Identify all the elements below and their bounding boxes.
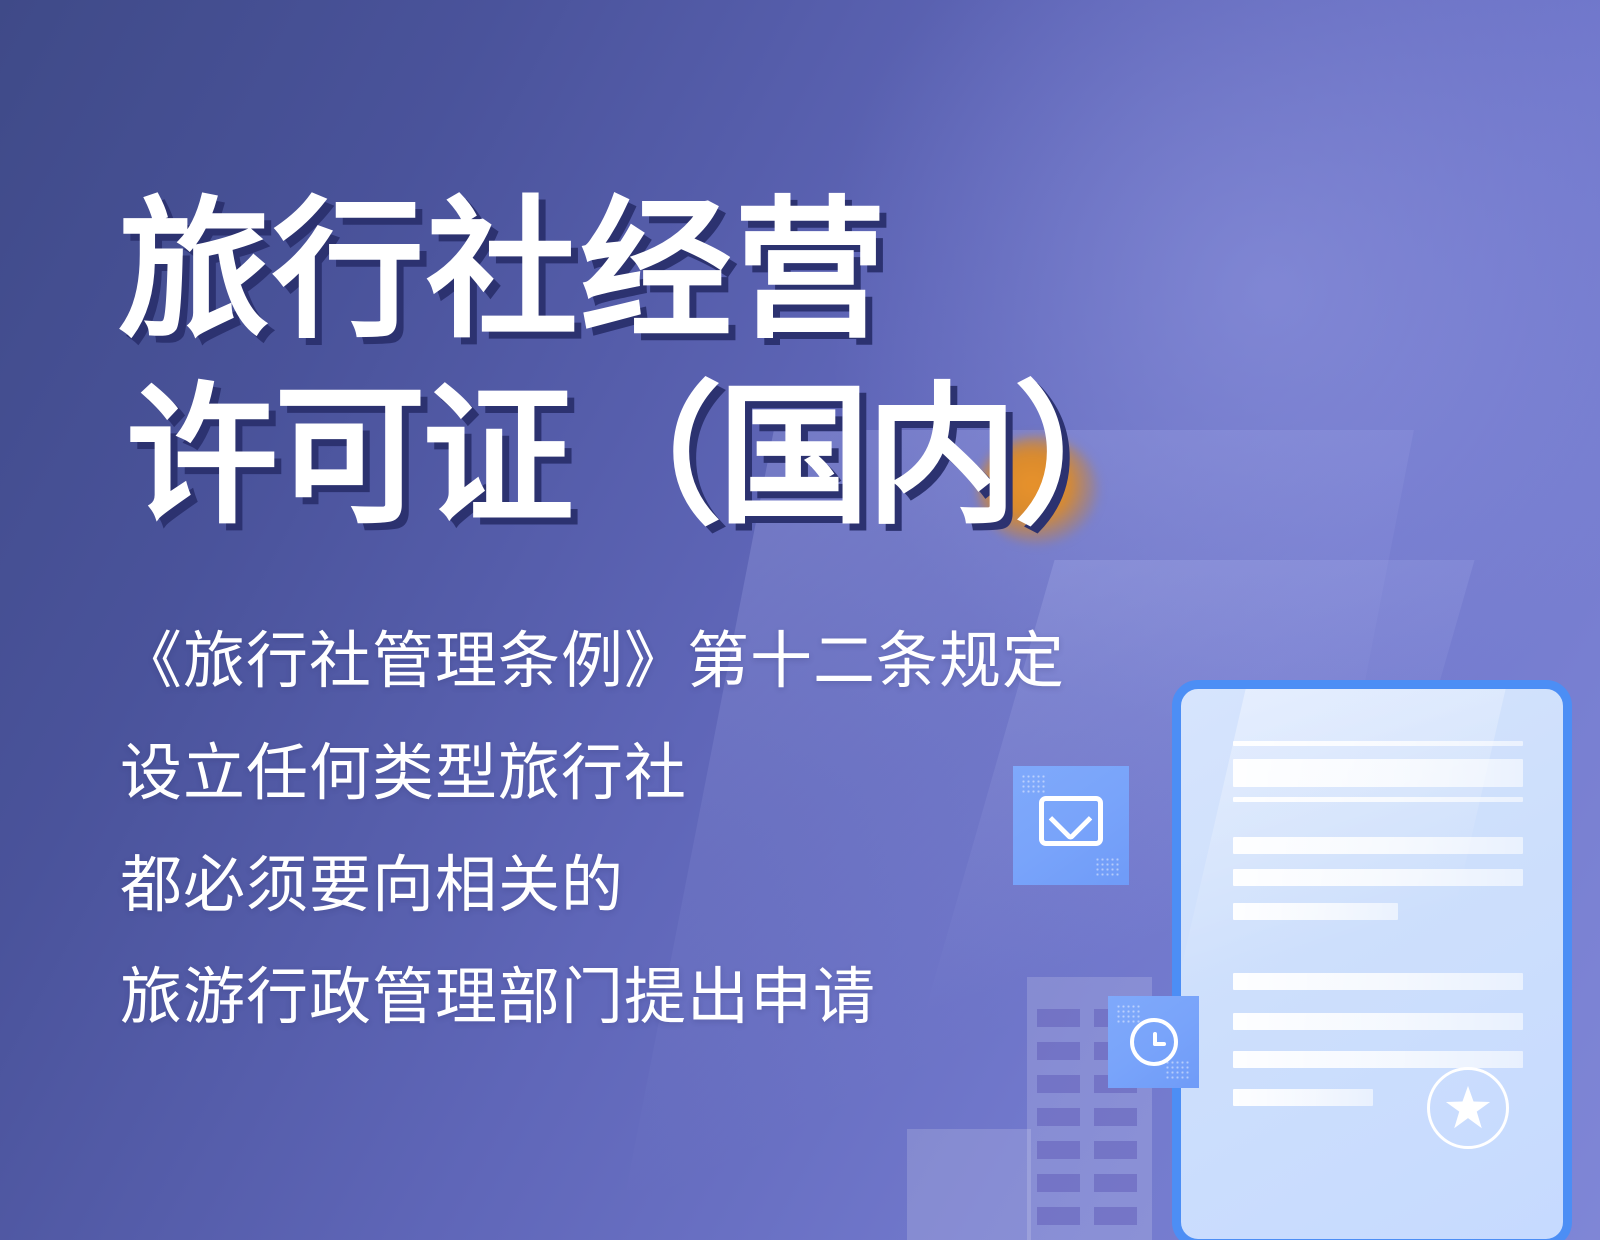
building-window [1094, 1207, 1137, 1225]
building-window [1094, 1141, 1137, 1159]
building-window [1037, 1075, 1080, 1093]
document-text-line [1233, 741, 1523, 746]
page-title-line-2: 许可证（国内） [126, 364, 1298, 550]
building-window [1037, 1042, 1080, 1060]
subtitle-line-1: 《旅行社管理条例》第十二条规定 [120, 606, 1220, 718]
tile-dots-decoration [1116, 1004, 1142, 1024]
document-card [1172, 680, 1572, 1240]
document-sheen [1172, 680, 1519, 1049]
clock-icon [1130, 1018, 1178, 1066]
document-text-line [1233, 1013, 1523, 1030]
poster-canvas: 旅行社经营 许可证（国内） 《旅行社管理条例》第十二条规定 设立任何类型旅行社 … [0, 0, 1600, 1240]
building-wing [907, 1129, 1031, 1240]
page-title-line-1: 旅行社经营 [118, 178, 1298, 364]
envelope-flap-icon [1049, 798, 1093, 842]
document-text-line [1233, 759, 1523, 787]
document-text-line [1233, 903, 1398, 920]
building-window [1037, 1174, 1080, 1192]
building-window [1094, 1108, 1137, 1126]
building-window [1037, 1141, 1080, 1159]
building-window [1037, 1108, 1080, 1126]
page-title: 旅行社经营 许可证（国内） [118, 178, 1298, 550]
building-window [1037, 1009, 1080, 1027]
star-shape-icon [1445, 1085, 1491, 1131]
star-seal-icon [1427, 1067, 1509, 1149]
envelope-icon [1039, 796, 1103, 846]
document-text-line [1233, 869, 1523, 886]
document-text-line [1233, 973, 1523, 990]
clock-tile [1108, 996, 1199, 1088]
tile-dots-decoration [1095, 857, 1121, 877]
document-text-line [1233, 1089, 1373, 1106]
document-text-line [1233, 797, 1523, 802]
clock-minute-hand-icon [1153, 1042, 1166, 1046]
envelope-tile [1013, 766, 1129, 885]
tile-dots-decoration [1021, 774, 1047, 794]
building-window [1094, 1174, 1137, 1192]
tile-dots-decoration [1165, 1060, 1191, 1080]
document-text-line [1233, 837, 1523, 854]
document-text-line [1233, 1051, 1523, 1068]
building-window [1037, 1207, 1080, 1225]
